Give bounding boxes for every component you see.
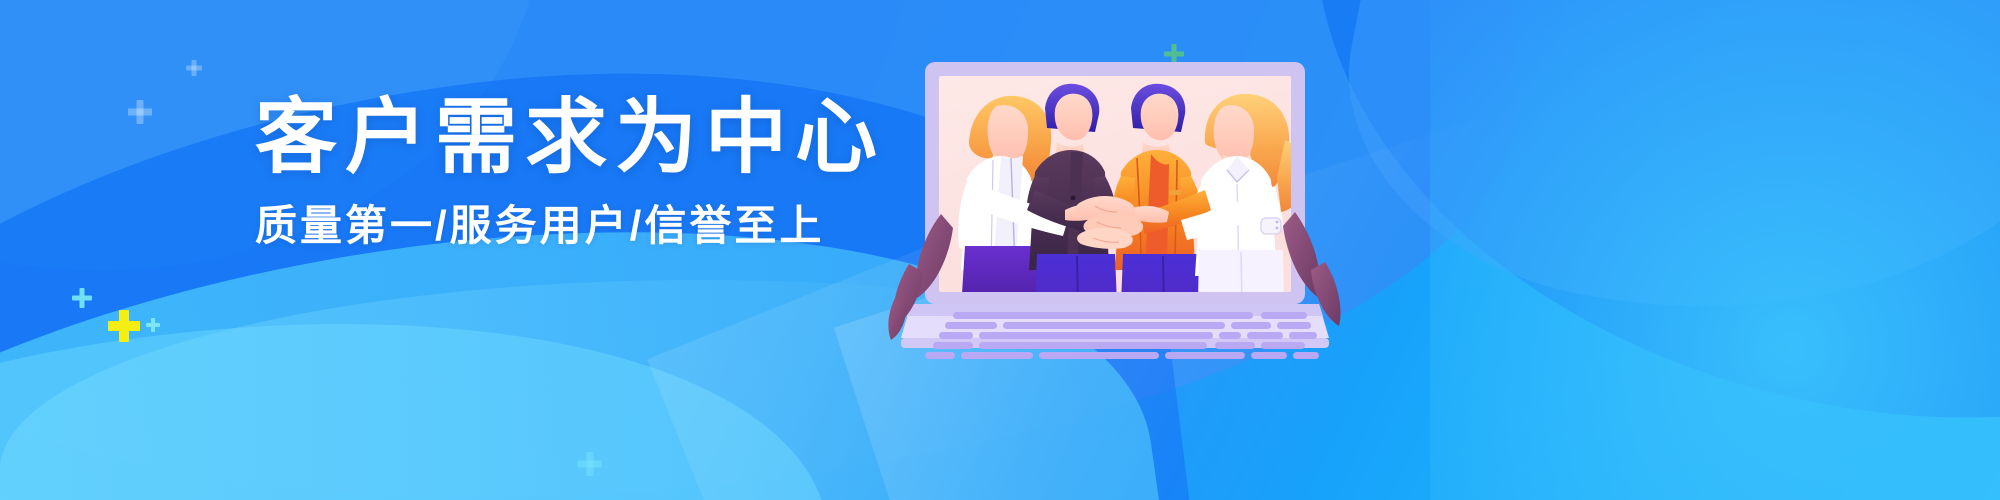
wave-right-deep [1264,0,2000,477]
headline-block: 客户需求为中心 质量第一/服务用户/信誉至上 [255,95,875,250]
page-title: 客户需求为中心 [255,95,875,182]
wave-top-right-band [1314,0,2000,387]
laptop-base [901,304,1329,359]
page-subtitle: 质量第一/服务用户/信誉至上 [255,202,875,250]
wave-right-glow [1430,0,2000,500]
plus-yellow-bottom-icon [108,310,140,342]
plus-cyan-middle-icon [578,452,602,476]
plus-cyan-tiny-icon [146,318,160,332]
plus-cyan-bottom-icon [72,288,92,308]
plus-pale-upper-icon [186,60,202,76]
laptop-team-illustration [905,50,1325,360]
promo-banner: 客户需求为中心 质量第一/服务用户/信誉至上 [0,0,2000,500]
wave-cyan-bottom-2 [0,235,863,500]
plus-pale-topleft-icon [128,100,152,124]
